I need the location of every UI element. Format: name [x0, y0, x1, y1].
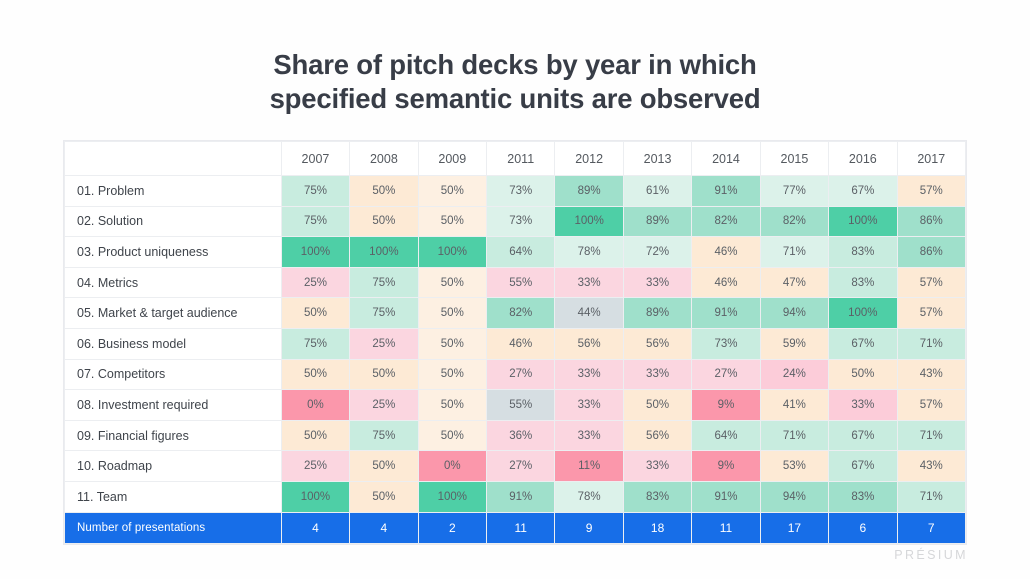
- heat-cell: 25%: [350, 390, 418, 421]
- column-header-2015: 2015: [760, 142, 828, 176]
- heat-cell: 53%: [760, 451, 828, 482]
- column-header-2014: 2014: [692, 142, 760, 176]
- heat-cell: 100%: [281, 237, 349, 268]
- heat-cell: 27%: [692, 359, 760, 390]
- column-header-2017: 2017: [897, 142, 965, 176]
- heat-cell: 91%: [692, 176, 760, 207]
- heat-cell: 71%: [760, 420, 828, 451]
- row-label: 07. Competitors: [65, 359, 282, 390]
- row-label: 09. Financial figures: [65, 420, 282, 451]
- heat-cell: 73%: [692, 328, 760, 359]
- row-label: 08. Investment required: [65, 390, 282, 421]
- column-header-2008: 2008: [350, 142, 418, 176]
- heat-cell: 67%: [829, 451, 897, 482]
- heat-cell: 25%: [281, 267, 349, 298]
- heat-cell: 50%: [418, 390, 486, 421]
- row-label: 06. Business model: [65, 328, 282, 359]
- heat-cell: 100%: [281, 481, 349, 512]
- heat-cell: 57%: [897, 176, 965, 207]
- page-title-line-1: Share of pitch decks by year in which: [0, 48, 1030, 82]
- heat-cell: 25%: [281, 451, 349, 482]
- heat-cell: 27%: [487, 451, 555, 482]
- footer-value: 6: [829, 512, 897, 543]
- heat-cell: 50%: [281, 298, 349, 329]
- header-row: 2007200820092011201220132014201520162017: [65, 142, 966, 176]
- row-label: 10. Roadmap: [65, 451, 282, 482]
- heat-cell: 9%: [692, 451, 760, 482]
- table-row: 08. Investment required0%25%50%55%33%50%…: [65, 390, 966, 421]
- heat-cell: 0%: [418, 451, 486, 482]
- row-label: 11. Team: [65, 481, 282, 512]
- heat-cell: 83%: [623, 481, 691, 512]
- heat-cell: 9%: [692, 390, 760, 421]
- heat-cell: 73%: [487, 176, 555, 207]
- footer-value: 4: [350, 512, 418, 543]
- heat-cell: 33%: [555, 420, 623, 451]
- heat-cell: 100%: [829, 206, 897, 237]
- heat-cell: 33%: [623, 451, 691, 482]
- heat-cell: 75%: [281, 328, 349, 359]
- page-title-line-2: specified semantic units are observed: [0, 82, 1030, 116]
- table-row: 06. Business model75%25%50%46%56%56%73%5…: [65, 328, 966, 359]
- heat-cell: 75%: [350, 420, 418, 451]
- footer-value: 17: [760, 512, 828, 543]
- heat-cell: 94%: [760, 481, 828, 512]
- row-label: 03. Product uniqueness: [65, 237, 282, 268]
- heat-cell: 55%: [487, 390, 555, 421]
- heat-cell: 33%: [555, 390, 623, 421]
- table-row: 05. Market & target audience50%75%50%82%…: [65, 298, 966, 329]
- heat-cell: 50%: [418, 298, 486, 329]
- heat-cell: 44%: [555, 298, 623, 329]
- heat-cell: 75%: [281, 206, 349, 237]
- heat-cell: 56%: [555, 328, 623, 359]
- presium-logo: PRÉSIUM: [894, 548, 968, 562]
- heat-cell: 61%: [623, 176, 691, 207]
- table-body: 01. Problem75%50%50%73%89%61%91%77%67%57…: [65, 176, 966, 513]
- heat-cell: 57%: [897, 267, 965, 298]
- table-row: 01. Problem75%50%50%73%89%61%91%77%67%57…: [65, 176, 966, 207]
- heat-cell: 71%: [760, 237, 828, 268]
- heat-cell: 100%: [350, 237, 418, 268]
- heat-cell: 100%: [418, 481, 486, 512]
- heat-cell: 50%: [623, 390, 691, 421]
- heat-cell: 72%: [623, 237, 691, 268]
- heat-cell: 89%: [555, 176, 623, 207]
- heat-cell: 89%: [623, 206, 691, 237]
- heat-cell: 50%: [418, 206, 486, 237]
- heat-cell: 46%: [487, 328, 555, 359]
- heat-cell: 47%: [760, 267, 828, 298]
- table-row: 04. Metrics25%75%50%55%33%33%46%47%83%57…: [65, 267, 966, 298]
- footer-row: Number of presentations 44211918111767: [65, 512, 966, 543]
- footer-label: Number of presentations: [65, 512, 282, 543]
- heat-cell: 83%: [829, 237, 897, 268]
- heat-cell: 43%: [897, 451, 965, 482]
- heat-cell: 83%: [829, 267, 897, 298]
- table-row: 10. Roadmap25%50%0%27%11%33%9%53%67%43%: [65, 451, 966, 482]
- heat-cell: 50%: [418, 176, 486, 207]
- heat-cell: 50%: [418, 328, 486, 359]
- row-label: 02. Solution: [65, 206, 282, 237]
- column-header-2012: 2012: [555, 142, 623, 176]
- heat-cell: 50%: [350, 451, 418, 482]
- footer-value: 11: [487, 512, 555, 543]
- row-label: 04. Metrics: [65, 267, 282, 298]
- table-row: 11. Team100%50%100%91%78%83%91%94%83%71%: [65, 481, 966, 512]
- heatmap-table: 2007200820092011201220132014201520162017…: [64, 141, 966, 544]
- heat-cell: 33%: [623, 359, 691, 390]
- heat-cell: 50%: [281, 420, 349, 451]
- row-label: 05. Market & target audience: [65, 298, 282, 329]
- heat-cell: 33%: [555, 267, 623, 298]
- heat-cell: 57%: [897, 390, 965, 421]
- heat-cell: 46%: [692, 267, 760, 298]
- column-header-2016: 2016: [829, 142, 897, 176]
- heat-cell: 33%: [829, 390, 897, 421]
- heatmap-table-wrapper: 2007200820092011201220132014201520162017…: [64, 141, 966, 544]
- heat-cell: 78%: [555, 237, 623, 268]
- heat-cell: 25%: [350, 328, 418, 359]
- table-footer: Number of presentations 44211918111767: [65, 512, 966, 543]
- heat-cell: 24%: [760, 359, 828, 390]
- heat-cell: 73%: [487, 206, 555, 237]
- heat-cell: 50%: [350, 176, 418, 207]
- heat-cell: 71%: [897, 420, 965, 451]
- heat-cell: 82%: [760, 206, 828, 237]
- footer-value: 18: [623, 512, 691, 543]
- heat-cell: 67%: [829, 176, 897, 207]
- heat-cell: 83%: [829, 481, 897, 512]
- heat-cell: 33%: [555, 359, 623, 390]
- heat-cell: 50%: [350, 481, 418, 512]
- heat-cell: 50%: [350, 359, 418, 390]
- heat-cell: 27%: [487, 359, 555, 390]
- heat-cell: 94%: [760, 298, 828, 329]
- column-header-2011: 2011: [487, 142, 555, 176]
- heat-cell: 64%: [692, 420, 760, 451]
- heat-cell: 50%: [418, 267, 486, 298]
- table-row: 09. Financial figures50%75%50%36%33%56%6…: [65, 420, 966, 451]
- heat-cell: 56%: [623, 420, 691, 451]
- heat-cell: 71%: [897, 328, 965, 359]
- heat-cell: 67%: [829, 420, 897, 451]
- heat-cell: 91%: [692, 298, 760, 329]
- heat-cell: 50%: [829, 359, 897, 390]
- heat-cell: 36%: [487, 420, 555, 451]
- heat-cell: 59%: [760, 328, 828, 359]
- heat-cell: 75%: [350, 298, 418, 329]
- heat-cell: 0%: [281, 390, 349, 421]
- table-row: 02. Solution75%50%50%73%100%89%82%82%100…: [65, 206, 966, 237]
- heat-cell: 82%: [487, 298, 555, 329]
- column-header-2013: 2013: [623, 142, 691, 176]
- heat-cell: 77%: [760, 176, 828, 207]
- heat-cell: 67%: [829, 328, 897, 359]
- heat-cell: 75%: [281, 176, 349, 207]
- heat-cell: 57%: [897, 298, 965, 329]
- column-header-2009: 2009: [418, 142, 486, 176]
- table-row: 03. Product uniqueness100%100%100%64%78%…: [65, 237, 966, 268]
- heat-cell: 50%: [418, 359, 486, 390]
- footer-value: 11: [692, 512, 760, 543]
- heat-cell: 100%: [555, 206, 623, 237]
- heat-cell: 78%: [555, 481, 623, 512]
- footer-value: 9: [555, 512, 623, 543]
- footer-value: 4: [281, 512, 349, 543]
- heat-cell: 50%: [418, 420, 486, 451]
- header-corner-cell: [65, 142, 282, 176]
- row-label: 01. Problem: [65, 176, 282, 207]
- heat-cell: 56%: [623, 328, 691, 359]
- heat-cell: 100%: [829, 298, 897, 329]
- heat-cell: 11%: [555, 451, 623, 482]
- heat-cell: 71%: [897, 481, 965, 512]
- heat-cell: 43%: [897, 359, 965, 390]
- heat-cell: 91%: [487, 481, 555, 512]
- heat-cell: 64%: [487, 237, 555, 268]
- heat-cell: 86%: [897, 206, 965, 237]
- table-header: 2007200820092011201220132014201520162017: [65, 142, 966, 176]
- heat-cell: 55%: [487, 267, 555, 298]
- heat-cell: 89%: [623, 298, 691, 329]
- table-row: 07. Competitors50%50%50%27%33%33%27%24%5…: [65, 359, 966, 390]
- heat-cell: 50%: [350, 206, 418, 237]
- heat-cell: 33%: [623, 267, 691, 298]
- heat-cell: 50%: [281, 359, 349, 390]
- heat-cell: 75%: [350, 267, 418, 298]
- footer-value: 2: [418, 512, 486, 543]
- column-header-2007: 2007: [281, 142, 349, 176]
- heat-cell: 100%: [418, 237, 486, 268]
- heat-cell: 86%: [897, 237, 965, 268]
- heat-cell: 82%: [692, 206, 760, 237]
- slide-canvas: Share of pitch decks by year in which sp…: [0, 0, 1030, 579]
- heat-cell: 46%: [692, 237, 760, 268]
- heat-cell: 91%: [692, 481, 760, 512]
- page-title: Share of pitch decks by year in which sp…: [0, 48, 1030, 116]
- heat-cell: 41%: [760, 390, 828, 421]
- footer-value: 7: [897, 512, 965, 543]
